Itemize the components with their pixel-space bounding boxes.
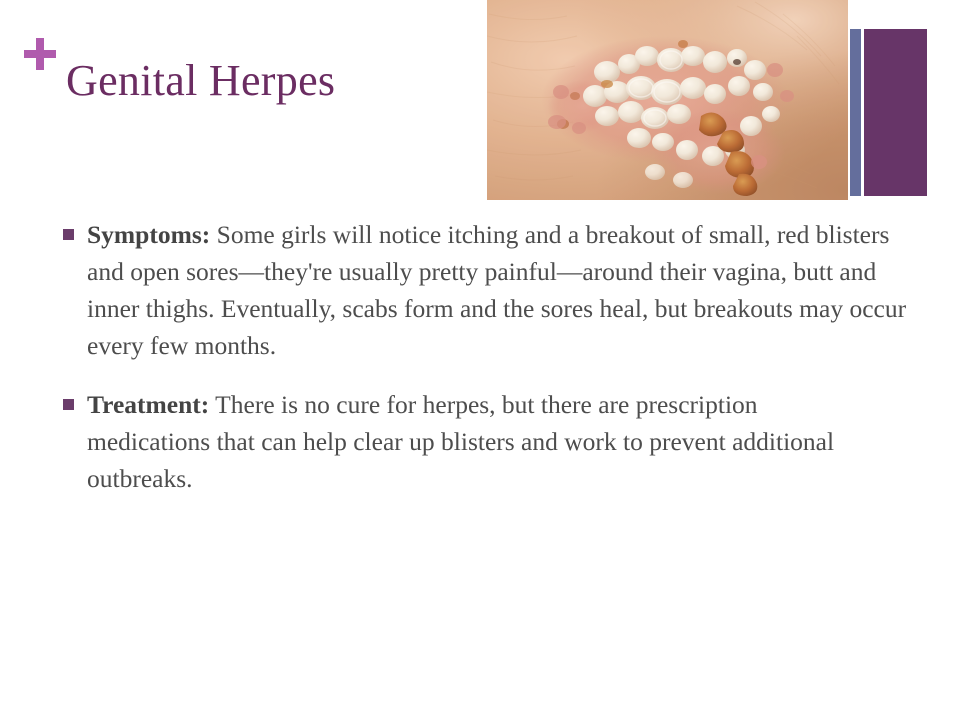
- list-item: Treatment: There is no cure for herpes, …: [56, 386, 896, 497]
- bullet-lead-label: Treatment:: [87, 390, 209, 419]
- plus-icon-vertical-bar: [36, 38, 44, 70]
- clinical-photo: [487, 0, 848, 200]
- presentation-slide: Genital Herpes Symptoms: Some girls will…: [0, 0, 960, 720]
- bullet-lead-label: Symptoms:: [87, 220, 210, 249]
- list-item: Symptoms: Some girls will notice itching…: [56, 216, 896, 364]
- bullet-body-text: Some girls will notice itching and a bre…: [87, 220, 906, 360]
- bullet-square-icon: [63, 229, 74, 240]
- decorative-accent-block: [864, 29, 927, 196]
- plus-icon: [24, 38, 56, 70]
- slide-title: Genital Herpes: [66, 55, 335, 107]
- slide-body: Symptoms: Some girls will notice itching…: [56, 216, 896, 497]
- bullet-text: Symptoms: Some girls will notice itching…: [87, 216, 907, 364]
- decorative-accent-bar: [850, 29, 861, 196]
- bullet-text: Treatment: There is no cure for herpes, …: [87, 386, 877, 497]
- bullet-square-icon: [63, 399, 74, 410]
